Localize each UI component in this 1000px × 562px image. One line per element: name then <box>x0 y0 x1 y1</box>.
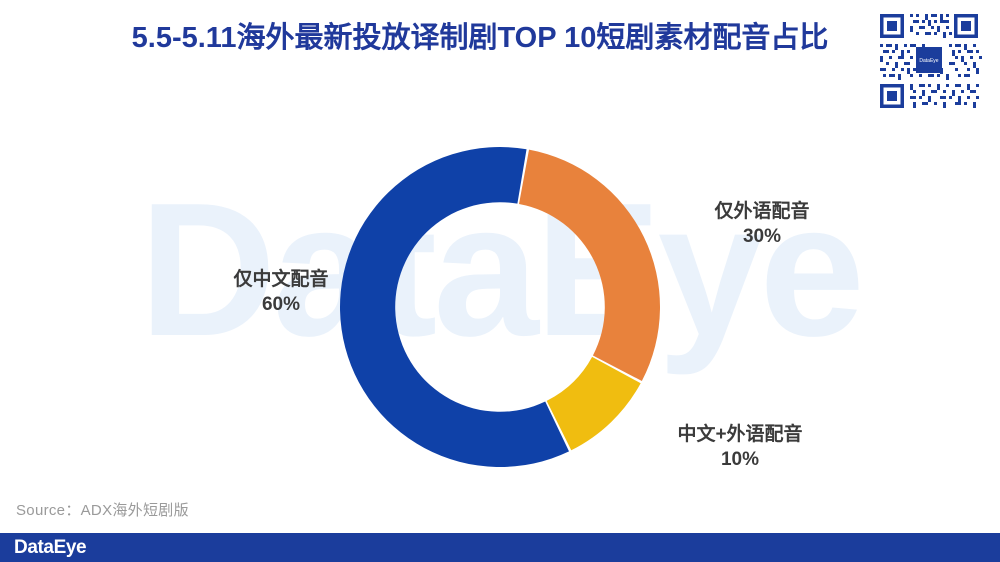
qr-code[interactable]: DataEye <box>870 8 988 114</box>
dataeye-logo: DataEye <box>14 537 86 559</box>
datalabel-slice-0-value: 60% <box>181 293 381 318</box>
datalabel-slice-2-name: 中文+外语配音 <box>625 423 855 448</box>
qr-code-image: DataEye <box>870 8 988 114</box>
datalabel-slice-1-value: 30% <box>662 225 862 250</box>
footer-bar: DataEye <box>0 533 1000 562</box>
donut-slice-1[interactable] <box>519 150 660 381</box>
datalabel-slice-2: 中文+外语配音 10% <box>625 423 855 472</box>
datalabel-slice-1-name: 仅外语配音 <box>662 200 862 225</box>
donut-slices <box>340 147 660 467</box>
donut-chart: 仅中文配音 60% 仅外语配音 30% 中文+外语配音 10% <box>0 0 1000 520</box>
qr-center-logo-text: DataEye <box>919 58 938 64</box>
source-note: Source：ADX海外短剧版 <box>16 499 189 520</box>
datalabel-slice-2-value: 10% <box>625 448 855 473</box>
datalabel-slice-0-name: 仅中文配音 <box>181 268 381 293</box>
datalabel-slice-1: 仅外语配音 30% <box>662 200 862 249</box>
donut-chart-svg <box>340 147 660 467</box>
datalabel-slice-0: 仅中文配音 60% <box>181 268 381 317</box>
page-title: 5.5-5.11海外最新投放译制剧TOP 10短剧素材配音占比 <box>110 18 850 58</box>
